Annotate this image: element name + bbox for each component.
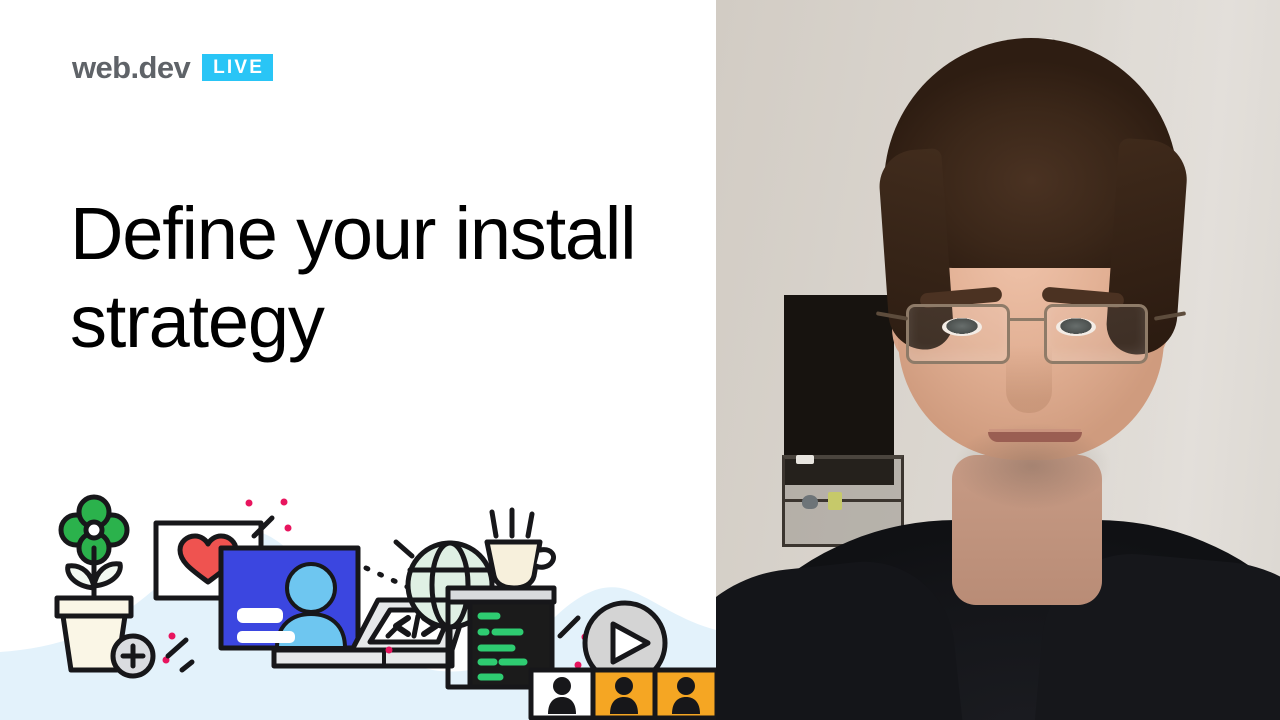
live-stream-layout: web.dev LIVE Define your install strateg… (0, 0, 1280, 720)
presentation-slide: web.dev LIVE Define your install strateg… (0, 0, 716, 720)
presenter-mouth (988, 432, 1082, 442)
avatar-card-icon (221, 548, 358, 648)
live-badge: LIVE (202, 54, 273, 81)
hero-illustration (0, 490, 716, 720)
coffee-cup-icon (487, 510, 554, 588)
glasses-lens-right (1044, 304, 1148, 364)
presenter-nose (1006, 345, 1052, 413)
glasses-bridge (1010, 318, 1044, 321)
web-dev-live-logo: web.dev LIVE (72, 52, 273, 83)
presenter-webcam-feed (716, 0, 1280, 720)
participant-tiles-icon (531, 670, 716, 718)
glasses-lens-left (906, 304, 1010, 364)
shelf-object-green (828, 492, 842, 510)
potted-plant-icon (57, 497, 153, 676)
sparkle-cluster-left (163, 633, 193, 671)
shelf-object-gray (802, 495, 818, 509)
brand-wordmark: web.dev (72, 52, 190, 83)
slide-title: Define your install strategy (70, 190, 670, 366)
shelf-object-top (796, 455, 814, 464)
